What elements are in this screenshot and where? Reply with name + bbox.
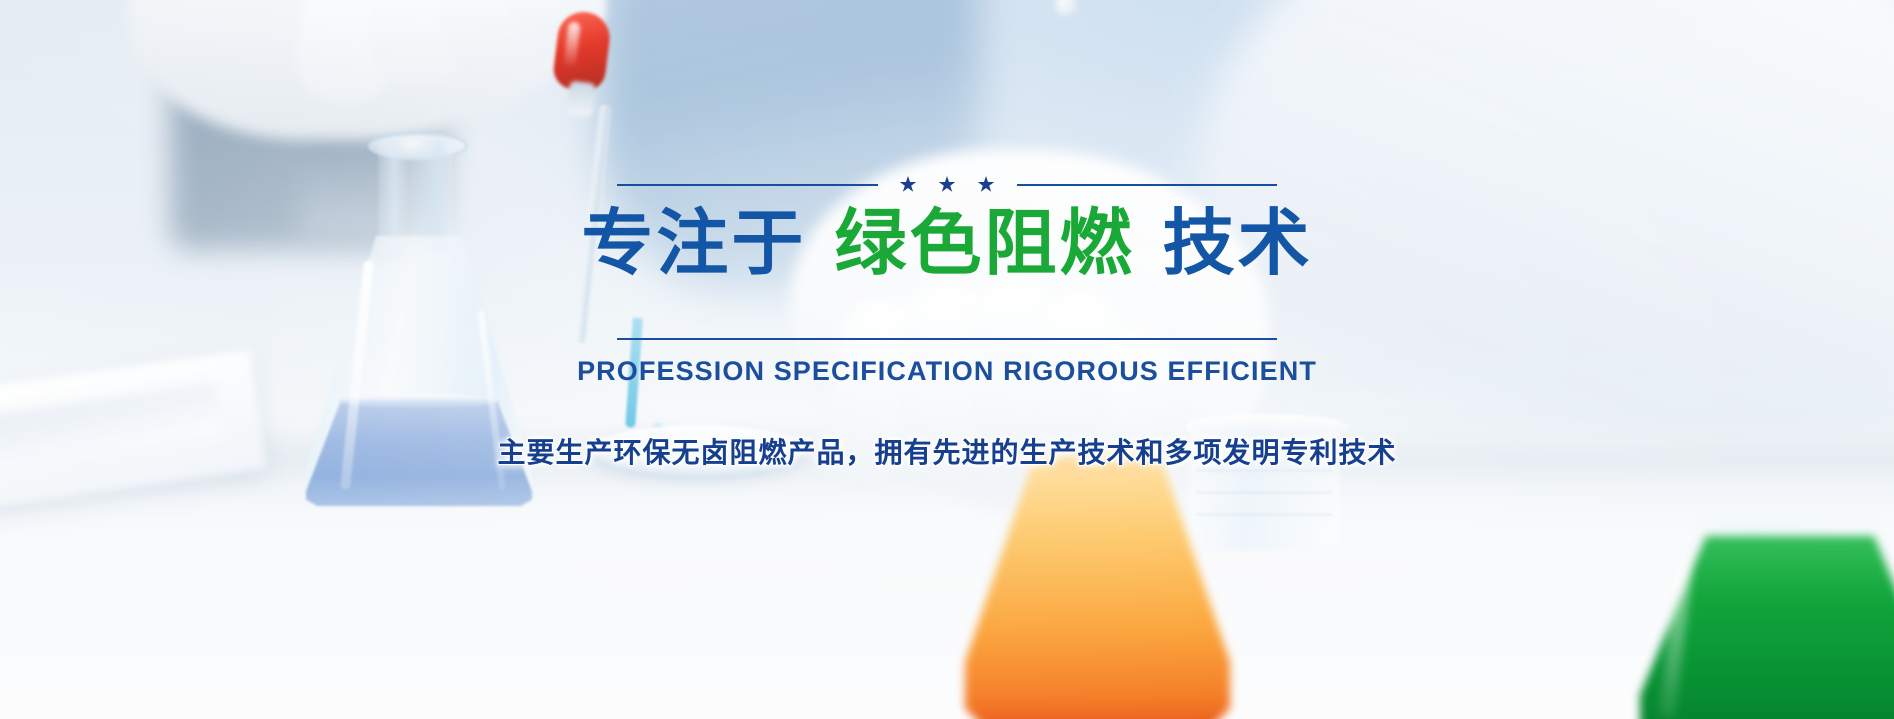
star-icon xyxy=(900,176,917,193)
headline-bottom-divider xyxy=(617,338,1277,340)
headline-space-2 xyxy=(1135,201,1163,285)
star-icon xyxy=(939,176,956,193)
headline-space xyxy=(806,201,834,285)
divider-line-left xyxy=(617,184,878,186)
headline-top-divider xyxy=(617,176,1277,193)
headline-part-focus: 专注于 xyxy=(581,201,806,285)
headline-part-technology: 技术 xyxy=(1163,201,1313,285)
banner-content: 专注于 绿色阻燃 技术 PROFESSION SPECIFICATION RIG… xyxy=(0,0,1894,719)
star-icon xyxy=(978,176,995,193)
english-subtitle: PROFESSION SPECIFICATION RIGOROUS EFFICI… xyxy=(577,356,1317,387)
headline-part-green-flame: 绿色阻燃 xyxy=(834,201,1134,285)
hero-banner: 专注于 绿色阻燃 技术 PROFESSION SPECIFICATION RIG… xyxy=(0,0,1894,719)
divider-line-right xyxy=(1017,184,1278,186)
page-title: 专注于 绿色阻燃 技术 xyxy=(581,203,1312,284)
star-group xyxy=(878,176,1017,193)
tagline-text: 主要生产环保无卤阻燃产品，拥有先进的生产技术和多项发明专利技术 xyxy=(497,431,1396,471)
